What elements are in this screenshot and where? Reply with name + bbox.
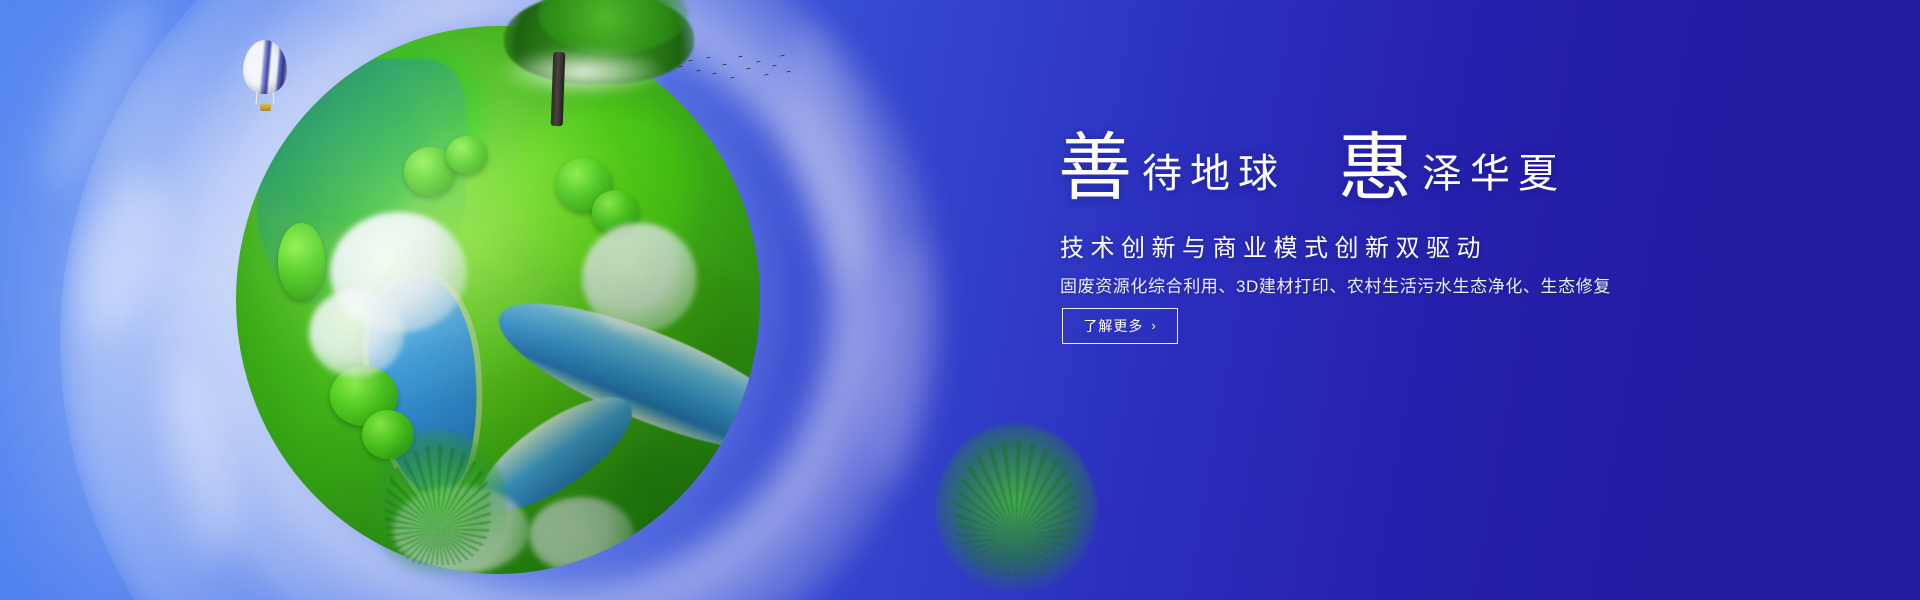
bird (722, 64, 727, 68)
subtitle: 技术创新与商业模式创新双驱动 (1060, 228, 1487, 263)
bird (756, 61, 761, 65)
cloud-wisp (150, 359, 250, 567)
tree-branches (385, 445, 491, 565)
learn-more-label: 了解更多 (1083, 316, 1143, 336)
learn-more-button[interactable]: 了解更多 › (1062, 308, 1178, 344)
cloud-wisp (26, 0, 175, 201)
bird (678, 66, 683, 70)
bird (688, 60, 693, 64)
headline-phrase1-big: 善 (1058, 132, 1132, 206)
bird (696, 70, 701, 74)
bird (786, 71, 791, 75)
bird (780, 55, 785, 59)
description-text: 固废资源化综合利用、3D建材打印、农村生活污水生态净化、生态修复 (1060, 272, 1611, 297)
tiny-planet-globe (236, 26, 760, 574)
hero-content: 善 待地球 惠 泽华夏 技术创新与商业模式创新双驱动 固废资源化综合利用、3D建… (1058, 0, 1818, 600)
headline-phrase2-small: 泽华夏 (1412, 148, 1566, 206)
horizon-tree-left (368, 430, 508, 580)
hero-banner: 善 待地球 惠 泽华夏 技术创新与商业模式创新双驱动 固废资源化综合利用、3D建… (0, 0, 1920, 600)
bird (746, 68, 751, 72)
bird (712, 73, 717, 77)
chevron-right-icon: › (1151, 319, 1156, 332)
bird (764, 74, 769, 78)
tree-trunk (551, 52, 566, 126)
bird (730, 77, 735, 81)
bird (772, 65, 777, 69)
headline-phrase2-big: 惠 (1338, 132, 1412, 206)
cloud-wisp (858, 240, 943, 485)
large-tree-icon (464, 0, 694, 122)
bird (738, 56, 743, 60)
tree-mist (498, 48, 668, 96)
cloud-wisp (65, 163, 184, 346)
page-title: 善 待地球 惠 泽华夏 (1058, 132, 1566, 206)
headline-phrase1-small: 待地球 (1132, 148, 1286, 206)
bird-flock-icon (676, 52, 796, 92)
bird (706, 57, 711, 61)
